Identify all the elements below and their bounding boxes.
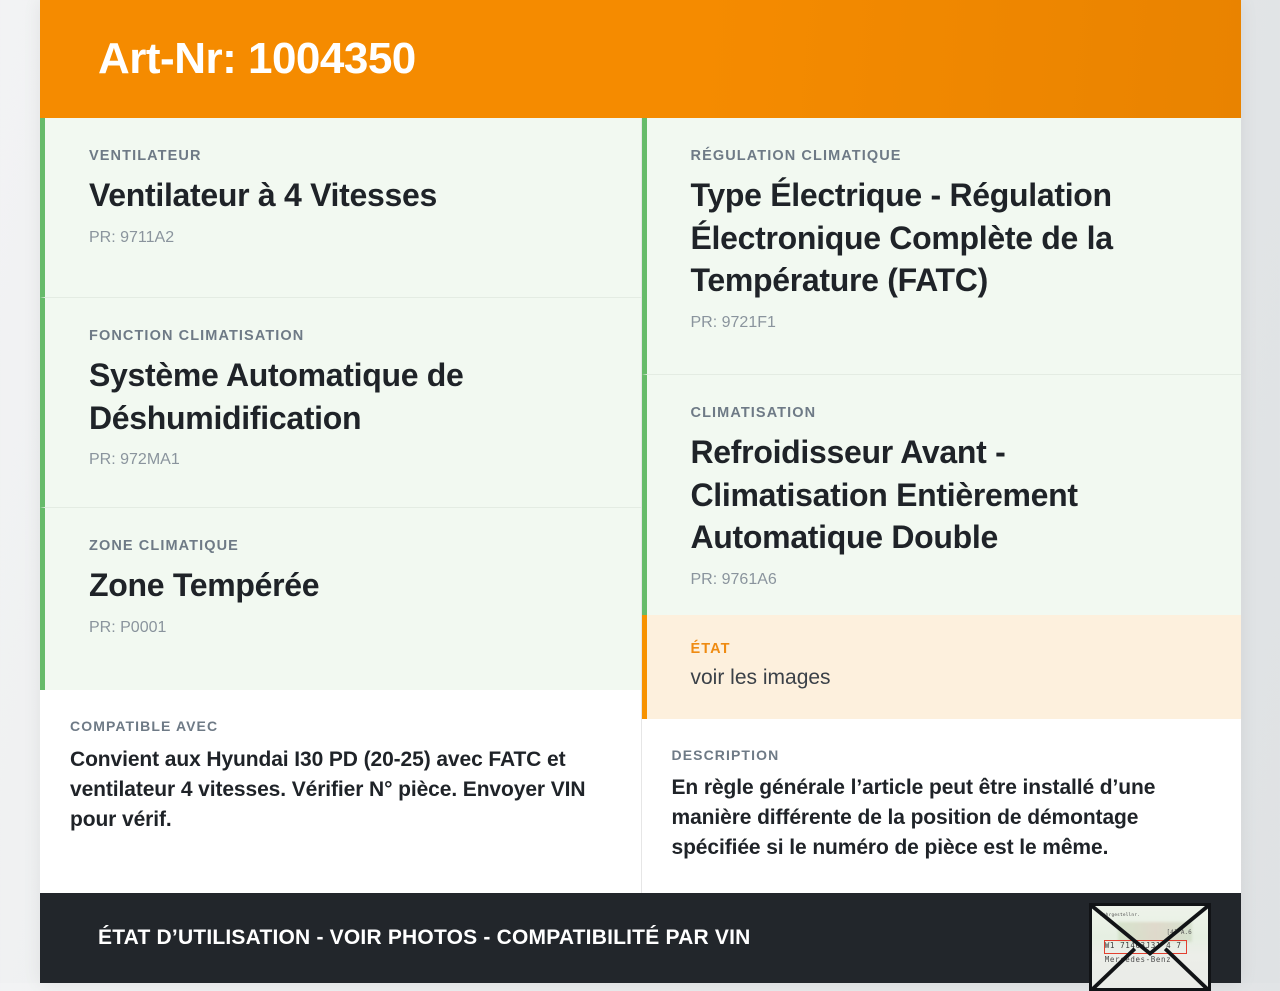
compatibility-text: Convient aux Hyundai I30 PD (20-25) avec… [70,745,597,834]
right-column: RÉGULATION CLIMATIQUE Type Électrique - … [641,118,1242,893]
spec-card-zone-climatique: ZONE CLIMATIQUE Zone Tempérée PR: P0001 [40,508,641,690]
compatibility-note: COMPATIBLE AVEC Convient aux Hyundai I30… [40,690,641,893]
spec-card-climatisation: CLIMATISATION Refroidisseur Avant - Clim… [642,375,1242,615]
spec-title: Type Électrique - Régulation Électroniqu… [691,174,1198,302]
status-value: voir les images [691,664,1198,691]
description-note: DESCRIPTION En règle générale l’article … [642,719,1242,893]
spec-card-ventilateur: VENTILATEUR Ventilateur à 4 Vitesses PR:… [40,118,641,298]
envelope-flap-icon [1092,906,1208,990]
spec-pr-code: PR: 972MA1 [89,451,597,469]
spec-title: Zone Tempérée [89,564,597,607]
listing-card: Art-Nr: 1004350 VENTILATEUR Ventilateur … [40,0,1241,983]
left-column: VENTILATEUR Ventilateur à 4 Vitesses PR:… [40,118,641,893]
spec-card-regulation-climatique: RÉGULATION CLIMATIQUE Type Électrique - … [642,118,1242,375]
status-card-etat: ÉTAT voir les images [642,615,1242,719]
compatibility-label: COMPATIBLE AVEC [70,718,597,734]
description-label: DESCRIPTION [672,747,1198,763]
envelope-icon: Fahrgestellnr. [4] A.6 W1 71463J31 4 7 M… [1089,903,1211,991]
spec-pr-code: PR: 9711A2 [89,229,597,247]
description-text: En règle générale l’article peut être in… [672,773,1198,862]
spec-label: FONCTION CLIMATISATION [89,328,597,344]
spec-title: Ventilateur à 4 Vitesses [89,174,597,217]
footer-bar: ÉTAT D’UTILISATION - VOIR PHOTOS - COMPA… [40,893,1241,983]
header-bar: Art-Nr: 1004350 [40,0,1241,118]
page-title: Art-Nr: 1004350 [98,34,416,84]
spec-label: RÉGULATION CLIMATIQUE [691,148,1198,164]
spec-label: CLIMATISATION [691,405,1198,421]
footer-text: ÉTAT D’UTILISATION - VOIR PHOTOS - COMPA… [98,926,750,950]
spec-pr-code: PR: 9761A6 [691,571,1198,589]
spec-pr-code: PR: 9721F1 [691,314,1198,332]
envelope-body: Fahrgestellnr. [4] A.6 W1 71463J31 4 7 M… [1089,903,1211,991]
spec-title: Système Automatique de Déshumidification [89,354,597,439]
spec-pr-code: PR: P0001 [89,619,597,637]
spec-label: ZONE CLIMATIQUE [89,538,597,554]
spec-title: Refroidisseur Avant - Climatisation Enti… [691,431,1198,559]
status-label: ÉTAT [691,641,1198,657]
spec-label: VENTILATEUR [89,148,597,164]
spec-columns: VENTILATEUR Ventilateur à 4 Vitesses PR:… [40,118,1241,893]
spec-card-fonction-climatisation: FONCTION CLIMATISATION Système Automatiq… [40,298,641,508]
